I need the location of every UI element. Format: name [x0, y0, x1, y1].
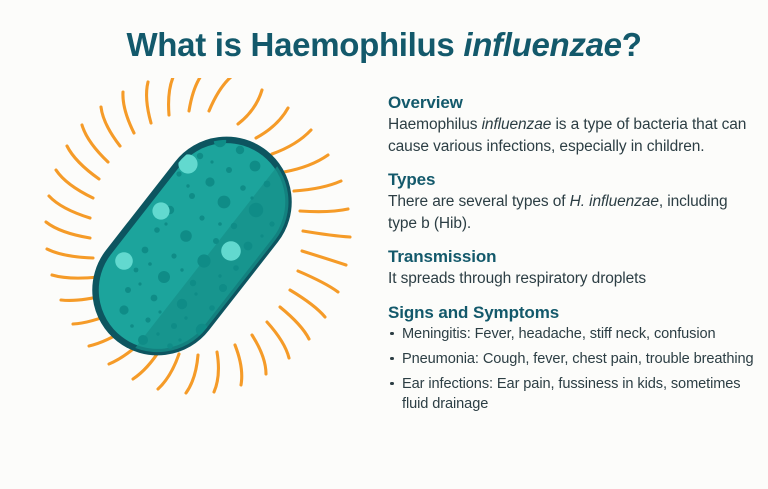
section-types: Types There are several types of H. infl…	[388, 169, 754, 234]
bullet-dot-icon	[390, 382, 394, 386]
section-body-transmission: It spreads through respiratory droplets	[388, 268, 754, 290]
types-body-italic: H. influenzae	[570, 193, 659, 210]
overview-body-prefix: Haemophilus	[388, 116, 482, 133]
list-item: Ear infections: Ear pain, fussiness in k…	[388, 374, 754, 414]
section-heading-types: Types	[388, 169, 754, 190]
list-item-text: Ear infections: Ear pain, fussiness in k…	[402, 376, 741, 412]
bacterium-illustration	[24, 78, 364, 418]
title-prefix: What is Haemophilus	[126, 26, 463, 63]
section-body-overview: Haemophilus influenzae is a type of bact…	[388, 114, 754, 157]
list-item-text: Pneumonia: Cough, fever, chest pain, tro…	[402, 351, 754, 367]
overview-body-italic: influenzae	[482, 116, 552, 133]
section-heading-signs-and-symptoms: Signs and Symptoms	[388, 302, 754, 323]
section-signs-and-symptoms: Signs and Symptoms Meningitis: Fever, he…	[388, 302, 754, 414]
page-title: What is Haemophilus influenzae?	[0, 26, 768, 64]
types-body-prefix: There are several types of	[388, 193, 570, 210]
list-item-text: Meningitis: Fever, headache, stiff neck,…	[402, 326, 716, 342]
section-body-types: There are several types of H. influenzae…	[388, 191, 754, 234]
symptom-list: Meningitis: Fever, headache, stiff neck,…	[388, 324, 754, 414]
bacterium-svg	[24, 78, 364, 418]
bullet-dot-icon	[390, 357, 394, 361]
bacterium-body	[70, 115, 326, 387]
section-transmission: Transmission It spreads through respirat…	[388, 246, 754, 290]
content-column: Overview Haemophilus influenzae is a typ…	[388, 92, 754, 414]
title-suffix: ?	[622, 26, 642, 63]
section-overview: Overview Haemophilus influenzae is a typ…	[388, 92, 754, 157]
section-heading-overview: Overview	[388, 92, 754, 113]
section-heading-transmission: Transmission	[388, 246, 754, 267]
infographic-page: What is Haemophilus influenzae?	[0, 0, 768, 489]
bullet-dot-icon	[390, 332, 394, 336]
list-item: Meningitis: Fever, headache, stiff neck,…	[388, 324, 754, 344]
title-italic-species: influenzae	[463, 26, 621, 63]
list-item: Pneumonia: Cough, fever, chest pain, tro…	[388, 349, 754, 369]
